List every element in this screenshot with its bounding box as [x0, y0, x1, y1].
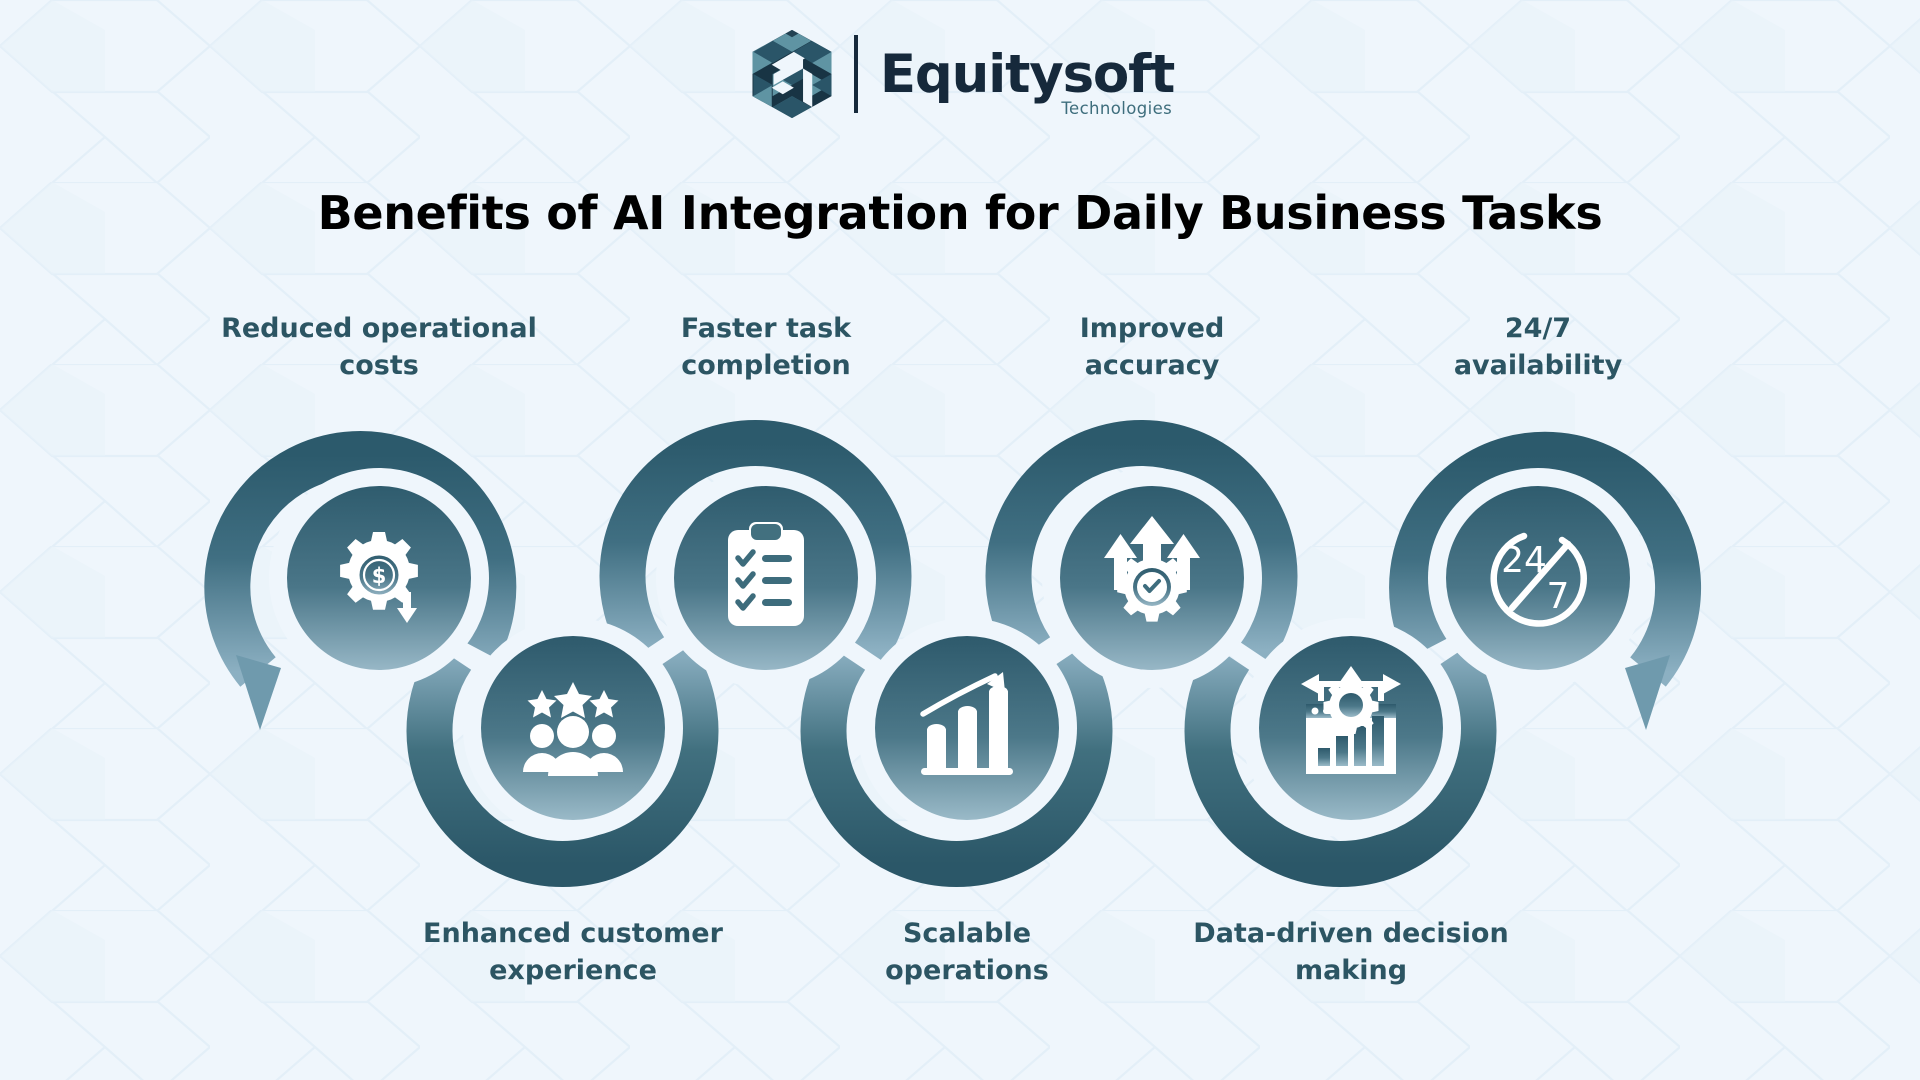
label-faster-task-completion: Faster task completion [586, 310, 946, 385]
node-enhanced-customer-experience[interactable] [463, 618, 683, 838]
label-reduced-operational-costs: Reduced operational costs [179, 310, 579, 385]
node-faster-task-completion[interactable] [656, 468, 876, 688]
brand-divider [854, 35, 858, 113]
svg-text:$: $ [372, 564, 387, 588]
icon-text-7: 7 [1547, 576, 1570, 617]
label-data-driven-decision-making: Data-driven decision making [1141, 915, 1561, 990]
node-scalable-operations[interactable] [857, 618, 1077, 838]
label-improved-accuracy: Improved accuracy [972, 310, 1332, 385]
dashboard-gear-arrows-icon [1301, 666, 1401, 774]
page-title: Benefits of AI Integration for Daily Bus… [0, 186, 1920, 240]
node-24-7-availability[interactable]: 24 7 [1428, 468, 1648, 688]
hexagon-cube-logo-icon [746, 28, 838, 120]
node-improved-accuracy[interactable] [1042, 468, 1262, 688]
label-enhanced-customer-experience: Enhanced customer experience [373, 915, 773, 990]
brand-logo: Equitysoft Technologies [0, 28, 1920, 120]
ribbon-cap-right [1625, 655, 1670, 730]
node-data-driven-decision-making[interactable] [1241, 618, 1461, 838]
brand-tagline: Technologies [1061, 99, 1172, 118]
label-scalable-operations: Scalable operations [787, 915, 1147, 990]
node-reduced-operational-costs[interactable]: $ [269, 468, 489, 688]
brand-name: Equitysoft [880, 48, 1174, 101]
label-24-7-availability: 24/7 availability [1358, 310, 1718, 385]
ribbon-cap-left [236, 655, 281, 730]
icon-text-24: 24 [1501, 540, 1547, 581]
clipboard-checklist-icon [728, 522, 804, 626]
